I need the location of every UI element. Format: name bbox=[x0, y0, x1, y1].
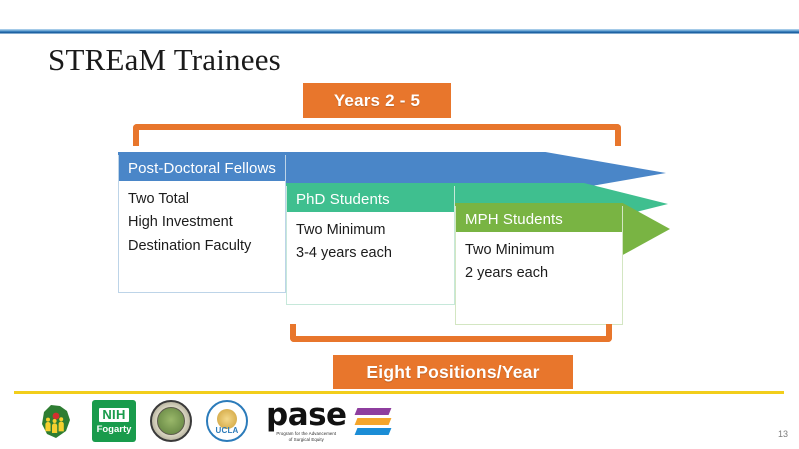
nih-logo-text: NIH bbox=[99, 408, 128, 422]
ucla-logo: UCLA bbox=[206, 400, 248, 442]
positions-bracket bbox=[290, 324, 612, 342]
pase-logo-text: pase bbox=[266, 400, 347, 430]
pase-logo: pase Program for the Advancement of Surg… bbox=[266, 400, 390, 442]
pase-bars-icon bbox=[356, 408, 390, 435]
pase-tagline-line1: Program for the Advancement bbox=[266, 431, 347, 436]
years-bracket bbox=[133, 124, 621, 146]
fogarty-logo-text: Fogarty bbox=[97, 424, 132, 435]
pase-tagline: Program for the Advancement of Surgical … bbox=[266, 431, 347, 442]
card-header-mph-students: MPH Students bbox=[456, 206, 622, 232]
university-seal-icon bbox=[150, 400, 192, 442]
country-map-people-icon bbox=[36, 400, 78, 442]
nih-fogarty-logo: NIH Fogarty bbox=[92, 400, 136, 442]
card-body-post-doctoral-fellows: Two Total High Investment Destination Fa… bbox=[119, 181, 285, 266]
card-line: Two Minimum bbox=[296, 219, 445, 242]
pase-bar-orange bbox=[354, 418, 391, 425]
card-header-post-doctoral-fellows: Post-Doctoral Fellows bbox=[119, 155, 285, 181]
card-line: 3-4 years each bbox=[296, 242, 445, 265]
card-line: Destination Faculty bbox=[128, 235, 276, 258]
card-body-mph-students: Two Minimum 2 years each bbox=[456, 232, 622, 294]
card-body-phd-students: Two Minimum 3-4 years each bbox=[287, 212, 454, 274]
card-mph-students: MPH Students Two Minimum 2 years each bbox=[455, 206, 623, 325]
page-title: STREaM Trainees bbox=[48, 42, 281, 78]
pase-bar-blue bbox=[354, 428, 391, 435]
positions-label-chip: Eight Positions/Year bbox=[333, 355, 573, 389]
years-label-chip: Years 2 - 5 bbox=[303, 83, 451, 118]
card-line: High Investment bbox=[128, 211, 276, 234]
footer-logo-strip: NIH Fogarty UCLA pase Program for the Ad… bbox=[36, 397, 390, 445]
pase-tagline-line2: of Surgical Equity bbox=[266, 437, 347, 442]
university-seal-inner bbox=[157, 407, 185, 435]
pase-wordmark: pase Program for the Advancement of Surg… bbox=[266, 400, 347, 442]
slide-canvas: STREaM Trainees Years 2 - 5 Post-Doctora… bbox=[0, 0, 799, 449]
card-line: Two Minimum bbox=[465, 239, 613, 262]
card-line: Two Total bbox=[128, 188, 276, 211]
pase-bar-purple bbox=[354, 408, 391, 415]
page-number: 13 bbox=[778, 429, 788, 439]
ucla-logo-text: UCLA bbox=[215, 426, 238, 435]
card-line: 2 years each bbox=[465, 262, 613, 285]
card-post-doctoral-fellows: Post-Doctoral Fellows Two Total High Inv… bbox=[118, 155, 286, 293]
top-accent-rule bbox=[0, 29, 799, 34]
card-header-phd-students: PhD Students bbox=[287, 186, 454, 212]
card-phd-students: PhD Students Two Minimum 3-4 years each bbox=[286, 186, 455, 305]
footer-divider bbox=[14, 391, 784, 394]
